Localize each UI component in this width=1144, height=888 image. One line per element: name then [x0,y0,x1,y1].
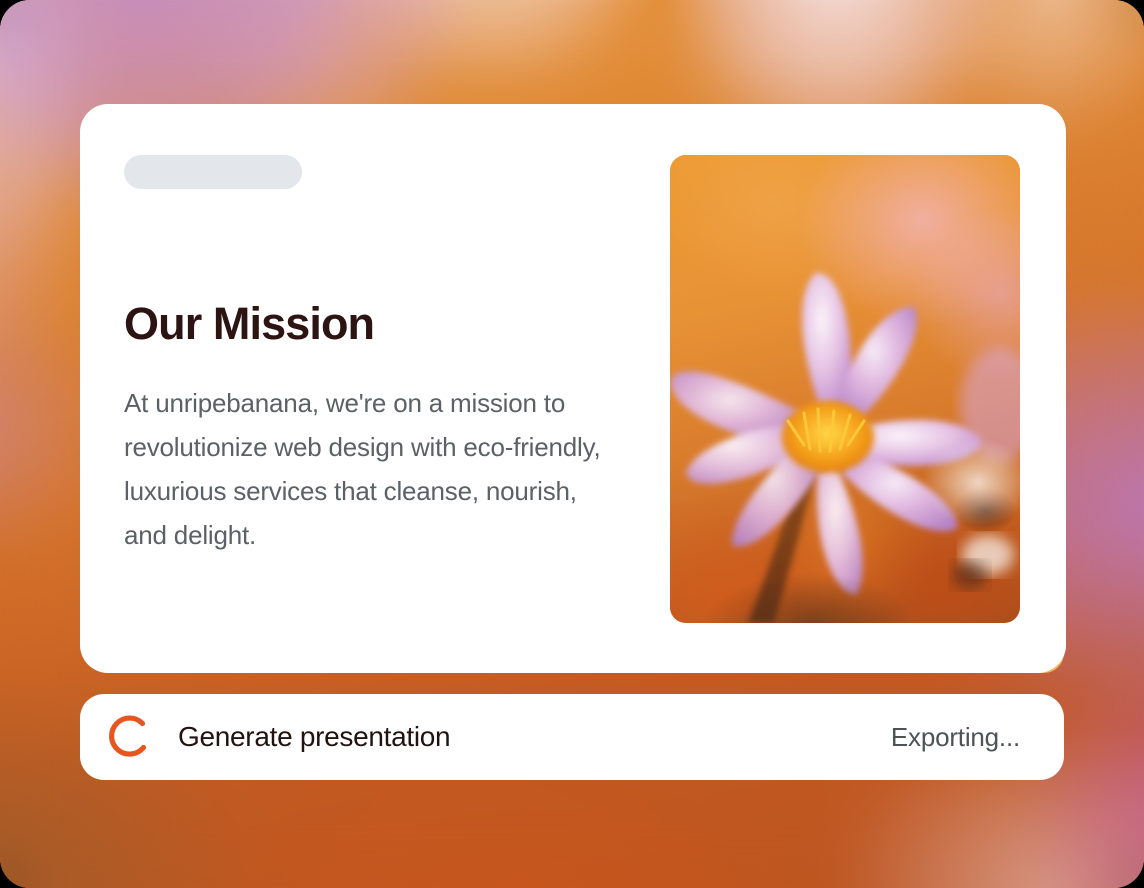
status-bar[interactable]: Generate presentation Exporting... [80,694,1064,780]
status-task-label: Generate presentation [178,721,891,753]
title-skeleton-placeholder [124,155,302,189]
photo-foreground-bokeh [670,155,1020,623]
status-state-label: Exporting... [891,722,1020,753]
slide-heading: Our Mission [124,300,644,347]
app-frame: Our Mission At unripebanana, we're on a … [0,0,1144,888]
slide-body-text: At unripebanana, we're on a mission to r… [124,381,624,557]
slide-image[interactable] [670,155,1020,623]
slide-text-column: Our Mission At unripebanana, we're on a … [124,300,644,557]
slide-card[interactable]: Our Mission At unripebanana, we're on a … [80,104,1066,673]
loading-spinner-icon [102,710,156,764]
